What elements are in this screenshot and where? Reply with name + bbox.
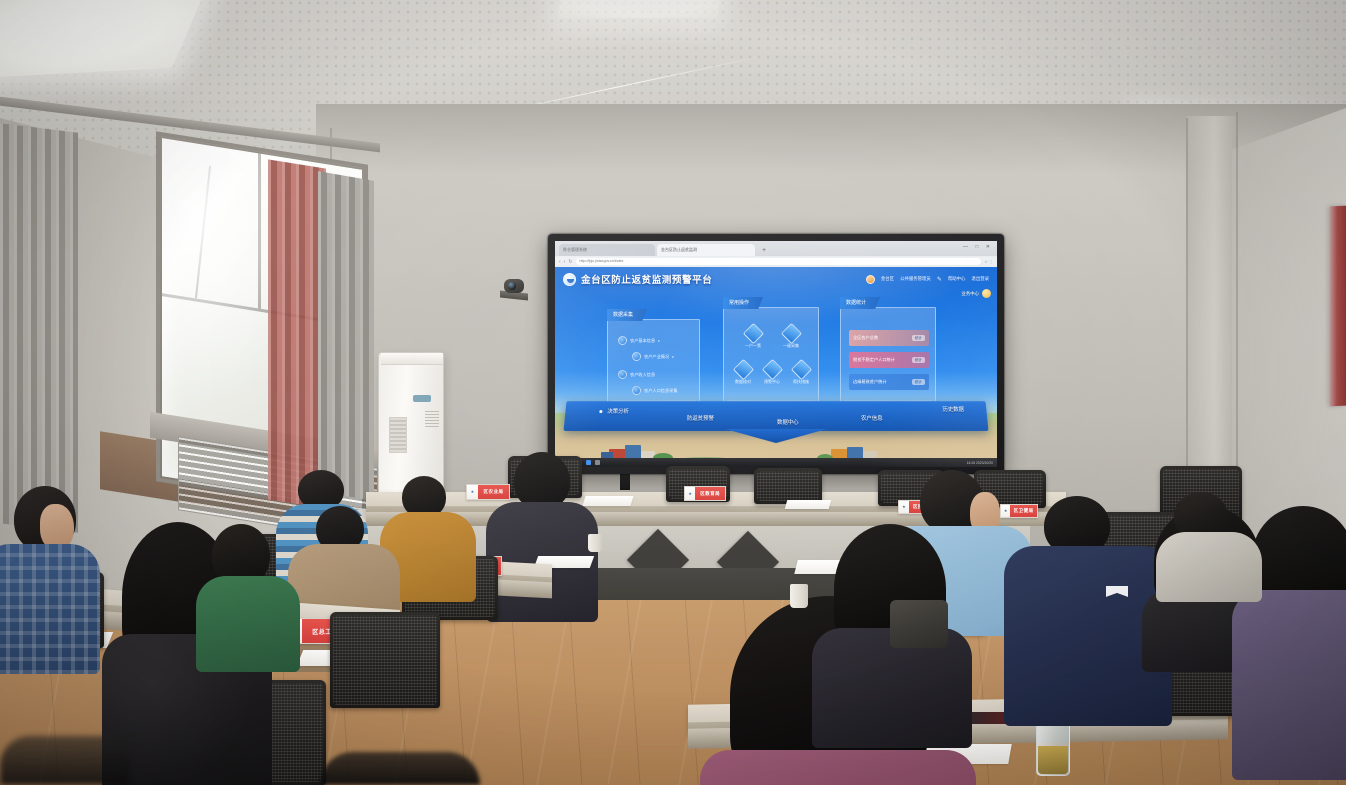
tree-item-label: 农户收入信息 [630, 372, 655, 378]
placard-text: 区教育局 [695, 487, 725, 500]
paper-document [582, 496, 633, 506]
camera-lens-icon [508, 282, 516, 290]
stat-row-1[interactable]: 脱贫不稳定户人口统计 统计 [849, 352, 929, 368]
foreground-blur [0, 736, 130, 785]
stat-label: 脱贫不稳定户人口统计 [853, 357, 895, 363]
node-icon [632, 352, 641, 361]
edit-icon[interactable]: ✎ [937, 276, 942, 283]
torso [1156, 532, 1262, 602]
tree-item-3[interactable]: 农户人口信息采集 [632, 386, 678, 395]
op-item-2[interactable]: 数据核对 [730, 362, 756, 385]
ac-side-vent [389, 417, 407, 453]
panel-common-operations[interactable]: 常用操作 一户一策 一键采集 数据核对 预警中 [723, 307, 819, 403]
chair-mesh [757, 471, 819, 501]
compare-icon [732, 359, 753, 380]
help-center-link[interactable]: 帮助中心 [948, 276, 966, 282]
handbag [890, 600, 948, 648]
paper-document [785, 500, 832, 509]
new-tab-button[interactable]: + [760, 247, 768, 255]
browser-tab-2[interactable]: 金台区防止返贫监测 [657, 244, 755, 256]
stat-value: 统计 [912, 335, 925, 341]
placard-text: 区卫健局 [1010, 505, 1037, 517]
header-user: 金台区 [881, 276, 894, 282]
node-icon [632, 386, 641, 395]
placard-front-4: ★ 区卫健局 [1000, 504, 1038, 518]
screen-stand-left [620, 474, 630, 490]
op-item-0[interactable]: 一户一策 [740, 326, 766, 349]
foreground-blur [320, 752, 480, 785]
platform-emblem-icon [563, 273, 576, 286]
op-label: 数据核对 [730, 379, 756, 385]
chevron-right-icon: ▸ [672, 354, 674, 359]
stat-row-2[interactable]: 边缘易致贫户统计 统计 [849, 374, 929, 390]
paper-cup [588, 534, 602, 552]
kappa-logo-icon [1106, 586, 1128, 602]
stat-label: 边缘易致贫户统计 [853, 379, 887, 385]
os-taskbar[interactable]: 14:26 2023/10/20 [555, 458, 997, 467]
curtain-left [0, 123, 78, 533]
placard-emblem-icon: ★ [467, 485, 478, 499]
chair-front-3[interactable] [754, 468, 822, 504]
tree-item-2[interactable]: 农户收入信息 [618, 370, 655, 379]
logout-link[interactable]: 退出登录 [971, 276, 989, 282]
tree-item-1[interactable]: 农户产业情况 ▸ [632, 352, 674, 361]
op-item-1[interactable]: 一键采集 [778, 326, 804, 349]
op-item-3[interactable]: 预警中心 [759, 362, 785, 385]
ac-display-panel [413, 395, 431, 402]
paper-cup [790, 584, 808, 608]
taskbar-icon-active[interactable] [586, 460, 591, 465]
placard-emblem-icon: ★ [1001, 505, 1010, 517]
nav-item-3[interactable]: 农户信息 [861, 414, 883, 422]
bottom-nav-ribbon: 决策分析 防返贫预警 数据中心 农户信息 历史数据 [564, 401, 989, 431]
ceiling-light-5 [557, 0, 723, 18]
placard-front-2: ★ 区教育局 [684, 486, 726, 501]
torso [700, 750, 976, 785]
browser-toolbar-icons[interactable]: ☆ ⋮ [984, 259, 993, 264]
ac-brand-logo [425, 411, 439, 427]
browser-chrome: 陈仓管理系统 金台区防止返贫监测 + — □ ✕ ‹ › ↻ http://fp… [555, 241, 997, 267]
panel-common-operations-tab: 常用操作 [723, 297, 763, 309]
torso [196, 576, 300, 672]
placard-emblem-icon: ★ [899, 501, 909, 513]
placard-text: 区农业局 [478, 485, 509, 499]
window-controls[interactable]: — □ ✕ [963, 244, 993, 250]
stat-value: 统计 [912, 379, 925, 385]
user-card-icon [742, 323, 763, 344]
screen-surface[interactable]: 陈仓管理系统 金台区防止返贫监测 + — □ ✕ ‹ › ↻ http://fp… [555, 241, 997, 467]
nav-active-dot-icon [599, 410, 602, 413]
op-label: 一键采集 [778, 343, 804, 349]
biz-center-dot-icon [982, 289, 991, 298]
nav-item-2[interactable]: 数据中心 [777, 418, 799, 426]
nav-item-4[interactable]: 历史数据 [942, 405, 964, 413]
reload-icon[interactable]: ↻ [568, 259, 572, 265]
address-bar[interactable]: http://fpjc.jintai.gov.cn/index [576, 258, 982, 265]
chevron-right-icon: ▸ [658, 338, 660, 343]
cloud-sync-icon [780, 323, 801, 344]
taskbar-icon[interactable] [595, 460, 600, 465]
stat-value: 统计 [912, 357, 925, 363]
alert-icon [761, 359, 782, 380]
header-right-cluster: 金台区 公共服务管理员 ✎ 帮助中心 退出登录 [866, 275, 989, 284]
chair-mesh [333, 615, 437, 705]
op-label: 帮扶措施 [788, 379, 814, 385]
curtain-right [318, 171, 374, 501]
nav-item-0[interactable]: 决策分析 [607, 407, 629, 415]
torso [0, 544, 100, 674]
node-icon [618, 336, 627, 345]
conference-room-photo: 陈仓管理系统 金台区防止返贫监测 + — □ ✕ ‹ › ↻ http://fp… [0, 0, 1346, 785]
panel-data-collection-tab: 数据采集 [607, 309, 647, 321]
platform-title: 金台区防止返贫监测预警平台 [581, 272, 712, 286]
tree-item-0[interactable]: 农户基本信息 ▸ [618, 336, 660, 345]
op-item-4[interactable]: 帮扶措施 [788, 362, 814, 385]
browser-address-row: ‹ › ↻ http://fpjc.jintai.gov.cn/index ☆ … [555, 256, 997, 267]
platform-page: 金台区防止返贫监测预警平台 金台区 公共服务管理员 ✎ 帮助中心 退出登录 业务… [555, 267, 997, 467]
ac-top-vent [381, 353, 443, 365]
stat-label: 全区农户总数 [853, 335, 878, 341]
tree-item-label: 农户基本信息 [630, 338, 655, 344]
business-center-button[interactable]: 业务中心 [961, 289, 991, 298]
header-org: 公共服务管理员 [900, 276, 931, 282]
tree-item-label: 农户人口信息采集 [644, 388, 678, 394]
led-display-screen[interactable]: 陈仓管理系统 金台区防止返贫监测 + — □ ✕ ‹ › ↻ http://fp… [548, 234, 1004, 474]
chair-left-1[interactable] [330, 612, 440, 708]
panel-data-collection[interactable]: 数据采集 农户基本信息 ▸ 农户产业情况 ▸ 农户收入信息 [607, 319, 700, 403]
tree-item-label: 农户产业情况 [644, 354, 669, 360]
panel-data-statistics-tab: 数据统计 [840, 297, 880, 309]
stat-row-0[interactable]: 全区农户总数 统计 [849, 330, 929, 346]
platform-header: 金台区防止返贫监测预警平台 金台区 公共服务管理员 ✎ 帮助中心 退出登录 [555, 267, 997, 291]
op-label: 预警中心 [759, 379, 785, 385]
op-label: 一户一策 [740, 343, 766, 349]
taskbar-clock[interactable]: 14:26 2023/10/20 [967, 461, 993, 465]
forward-icon[interactable]: › [564, 259, 566, 265]
user-avatar[interactable] [866, 275, 875, 284]
placard-emblem-icon: ★ [685, 487, 695, 500]
nav-item-1[interactable]: 防返贫预警 [687, 414, 714, 422]
wall-red-banner [1330, 206, 1346, 407]
node-icon [618, 370, 627, 379]
back-icon[interactable]: ‹ [559, 259, 561, 265]
torso [1232, 590, 1346, 780]
browser-tab-1[interactable]: 陈仓管理系统 [559, 244, 655, 256]
business-center-label: 业务中心 [961, 291, 979, 297]
panel-data-statistics[interactable]: 数据统计 全区农户总数 统计 脱贫不稳定户人口统计 统计 边缘易致贫户统计 统计 [840, 307, 936, 403]
placard-front-1: ★ 区农业局 [466, 484, 510, 500]
aid-icon [790, 359, 811, 380]
